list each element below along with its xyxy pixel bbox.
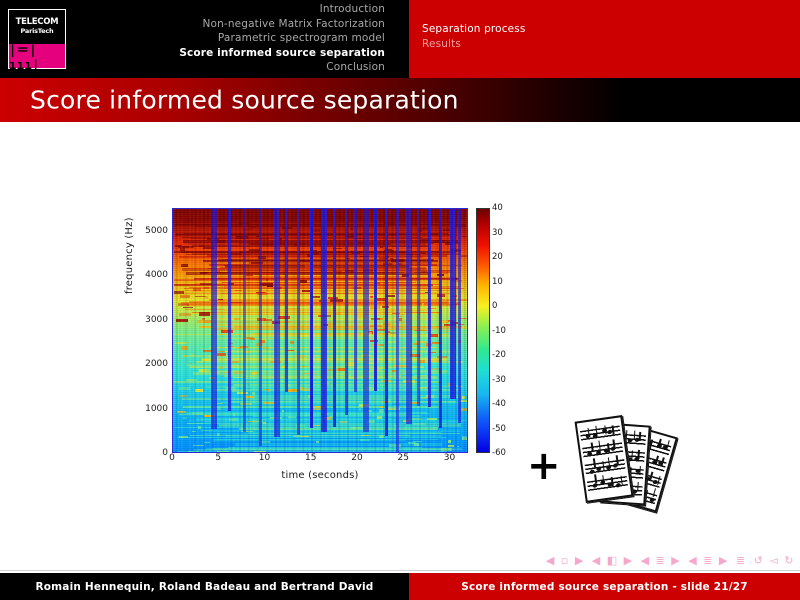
subsection-navigation: Separation process Results bbox=[422, 22, 722, 51]
telecom-paristech-logo: TELECOM ParisTech |＝|ııı| bbox=[8, 9, 66, 69]
spectrogram-plot-area bbox=[172, 208, 468, 453]
slide-content: frequency (Hz) 010002000300040005000 403… bbox=[0, 126, 800, 546]
nav-symbol-slide[interactable]: ◀ ▫ ▶ bbox=[546, 554, 585, 567]
logo-text-block: TELECOM ParisTech bbox=[9, 10, 65, 42]
colorbar-tick-0: 0 bbox=[492, 301, 497, 311]
y-tick-3000: 3000 bbox=[145, 315, 168, 325]
beamer-navigation-bar[interactable]: ◀ ▫ ▶ ◀ ◧ ▶ ◀ ≣ ▶ ◀ ≣ ▶ ≣ ↺ ◅ ↻ bbox=[505, 552, 795, 568]
slide-header: TELECOM ParisTech |＝|ııı| Introduction N… bbox=[0, 0, 800, 78]
y-tick-5000: 5000 bbox=[145, 226, 168, 236]
colorbar bbox=[476, 208, 490, 453]
colorbar-tick-10: 10 bbox=[492, 277, 503, 287]
x-tick-10: 10 bbox=[259, 453, 270, 463]
nav-symbol-back-find-forward[interactable]: ↺ ◅ ↻ bbox=[754, 554, 795, 567]
spectrogram-figure: frequency (Hz) 010002000300040005000 403… bbox=[128, 198, 508, 488]
sheet-music-illustration bbox=[578, 416, 693, 526]
colorbar-tick--30: -30 bbox=[492, 375, 506, 385]
x-tick-20: 20 bbox=[351, 453, 362, 463]
footer-authors: Romain Hennequin, Roland Badeau and Bert… bbox=[0, 573, 409, 600]
slide: TELECOM ParisTech |＝|ııı| Introduction N… bbox=[0, 0, 800, 600]
nav-item-parametric-model[interactable]: Parametric spectrogram model bbox=[160, 31, 385, 46]
colorbar-tick--10: -10 bbox=[492, 326, 506, 336]
nav-item-introduction[interactable]: Introduction bbox=[160, 2, 385, 17]
x-axis-label: time (seconds) bbox=[172, 470, 468, 481]
y-tick-0: 0 bbox=[162, 448, 168, 458]
x-tick-30: 30 bbox=[444, 453, 455, 463]
y-tick-2000: 2000 bbox=[145, 359, 168, 369]
nav-item-nmf[interactable]: Non-negative Matrix Factorization bbox=[160, 17, 385, 32]
colorbar-tick--40: -40 bbox=[492, 399, 506, 409]
spectrogram-noise-texture bbox=[173, 209, 467, 452]
colorbar-ticks: 403020100-10-20-30-40-50-60 bbox=[492, 208, 518, 453]
slide-footer: Romain Hennequin, Roland Badeau and Bert… bbox=[0, 573, 800, 600]
logo-line1: TELECOM bbox=[16, 18, 59, 27]
x-tick-25: 25 bbox=[398, 453, 409, 463]
y-axis-ticks: 010002000300040005000 bbox=[128, 208, 168, 448]
nav-item-conclusion[interactable]: Conclusion bbox=[160, 60, 385, 75]
footer-status-text: Score informed source separation - slide… bbox=[461, 581, 748, 593]
colorbar-tick-20: 20 bbox=[492, 252, 503, 262]
footer-divider bbox=[0, 570, 800, 571]
nav-item-results[interactable]: Results bbox=[422, 37, 722, 52]
footer-status: Score informed source separation - slide… bbox=[409, 573, 800, 600]
x-tick-5: 5 bbox=[215, 453, 221, 463]
page-title: Score informed source separation bbox=[30, 86, 459, 115]
section-navigation: Introduction Non-negative Matrix Factori… bbox=[160, 2, 385, 75]
x-tick-15: 15 bbox=[305, 453, 316, 463]
nav-symbol-frame[interactable]: ◀ ◧ ▶ bbox=[592, 554, 634, 567]
footer-authors-text: Romain Hennequin, Roland Badeau and Bert… bbox=[35, 581, 373, 593]
nav-symbol-section[interactable]: ◀ ≣ ▶ bbox=[688, 554, 729, 567]
colorbar-tick--20: -20 bbox=[492, 350, 506, 360]
nav-item-separation-process[interactable]: Separation process bbox=[422, 22, 722, 37]
x-axis-ticks: 051015202530 bbox=[172, 453, 468, 469]
logo-magenta-band: |＝|ııı| bbox=[9, 44, 65, 68]
nav-symbol-presentation[interactable]: ≣ bbox=[736, 554, 747, 567]
colorbar-tick--50: -50 bbox=[492, 424, 506, 434]
colorbar-tick-40: 40 bbox=[492, 203, 503, 213]
colorbar-tick-30: 30 bbox=[492, 228, 503, 238]
logo-line2: ParisTech bbox=[21, 27, 54, 35]
y-tick-4000: 4000 bbox=[145, 270, 168, 280]
y-tick-1000: 1000 bbox=[145, 404, 168, 414]
nav-item-score-informed-source-separation[interactable]: Score informed source separation bbox=[160, 46, 385, 61]
title-bar: Score informed source separation bbox=[0, 78, 800, 122]
nav-symbol-subsection[interactable]: ◀ ≣ ▶ bbox=[641, 554, 682, 567]
colorbar-tick--60: -60 bbox=[492, 448, 506, 458]
x-tick-0: 0 bbox=[169, 453, 175, 463]
logo-glyphs: |＝|ııı| bbox=[9, 41, 65, 72]
plus-symbol: + bbox=[527, 446, 561, 486]
